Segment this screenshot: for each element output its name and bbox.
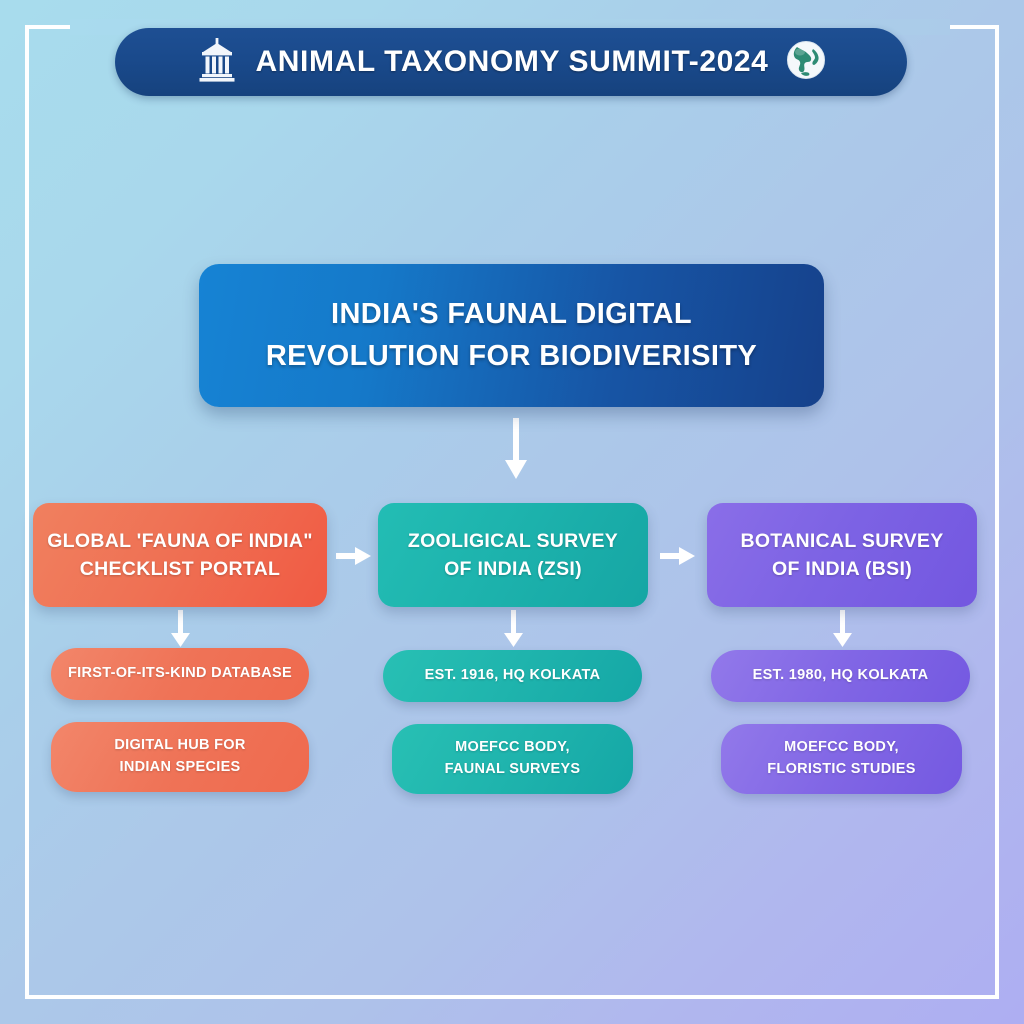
detail-pill: FIRST-OF-ITS-KIND DATABASE	[51, 648, 309, 700]
detail-pill: EST. 1980, HQ KOLKATA	[711, 650, 970, 702]
globe-icon	[786, 40, 826, 85]
header-bar: ANIMAL TAXONOMY SUMMIT-2024	[115, 28, 907, 96]
branch-title-line-2: CHECKLIST PORTAL	[80, 555, 281, 583]
detail-line-2: FAUNAL SURVEYS	[445, 759, 581, 781]
detail-line-2: FLORISTIC STUDIES	[767, 759, 916, 781]
branch-card-zoological-survey-of-india[interactable]: ZOOLIGICAL SURVEY OF INDIA (ZSI)	[378, 503, 648, 607]
arrow-branch-1-to-branch-2	[660, 545, 696, 572]
arrow-branch-0-to-detail	[170, 610, 192, 653]
detail-line-2: INDIAN SPECIES	[119, 757, 240, 779]
branch-title-line-1: GLOBAL 'FAUNA OF INDIA"	[47, 527, 313, 555]
branch-title-line-2: OF INDIA (ZSI)	[444, 555, 582, 583]
arrow-branch-2-to-detail	[832, 610, 854, 653]
branch-title-line-1: ZOOLIGICAL SURVEY	[408, 527, 618, 555]
detail-line-1: EST. 1916, HQ KOLKATA	[425, 665, 601, 687]
detail-pill: MOEFCC BODY, FAUNAL SURVEYS	[392, 724, 633, 794]
branch-title-line-2: OF INDIA (BSI)	[772, 555, 912, 583]
branch-card-botanical-survey-of-india[interactable]: BOTANICAL SURVEY OF INDIA (BSI)	[707, 503, 977, 607]
detail-line-1: MOEFCC BODY,	[784, 737, 899, 759]
branch-title-line-1: BOTANICAL SURVEY	[740, 527, 943, 555]
detail-line-1: MOEFCC BODY,	[455, 737, 570, 759]
classical-building-icon	[196, 37, 238, 88]
detail-line-1: FIRST-OF-ITS-KIND DATABASE	[68, 663, 292, 685]
detail-line-1: DIGITAL HUB FOR	[114, 735, 245, 757]
detail-pill: EST. 1916, HQ KOLKATA	[383, 650, 642, 702]
branch-card-fauna-checklist-portal[interactable]: GLOBAL 'FAUNA OF INDIA" CHECKLIST PORTAL	[33, 503, 327, 607]
detail-line-1: EST. 1980, HQ KOLKATA	[753, 665, 929, 687]
arrow-branch-1-to-detail	[503, 610, 525, 653]
arrow-branch-0-to-branch-1	[336, 545, 372, 572]
main-title-banner: INDIA'S FAUNAL DIGITAL REVOLUTION FOR BI…	[199, 264, 824, 407]
detail-pill: DIGITAL HUB FOR INDIAN SPECIES	[51, 722, 309, 792]
arrow-banner-to-branches	[503, 418, 529, 485]
detail-pill: MOEFCC BODY, FLORISTIC STUDIES	[721, 724, 962, 794]
banner-line-1: INDIA'S FAUNAL DIGITAL	[331, 294, 692, 335]
banner-line-2: REVOLUTION FOR BIODIVERISITY	[266, 336, 757, 377]
header-title: ANIMAL TAXONOMY SUMMIT-2024	[256, 45, 769, 79]
